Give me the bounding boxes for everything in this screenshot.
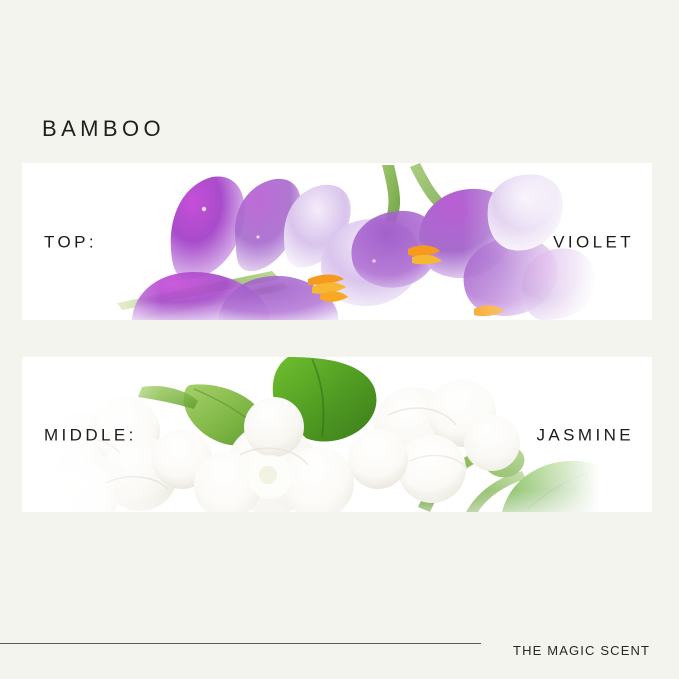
footer-divider: [0, 643, 481, 644]
page-title: BAMBOO: [42, 118, 165, 140]
note-value-middle: JASMINE: [537, 426, 634, 443]
note-value-top: VIOLET: [553, 233, 634, 250]
jasmine-bloom: [348, 429, 408, 489]
note-label-middle: MIDDLE:: [44, 426, 137, 443]
brand-name: THE MAGIC SCENT: [513, 644, 650, 657]
note-banner-middle: MIDDLE: JASMINE: [22, 357, 652, 512]
note-banner-top: TOP: VIOLET: [22, 163, 652, 320]
note-label-top: TOP:: [44, 233, 97, 250]
jasmine-bloom-center: [259, 466, 277, 484]
poster-canvas: BAMBOO: [0, 0, 679, 679]
